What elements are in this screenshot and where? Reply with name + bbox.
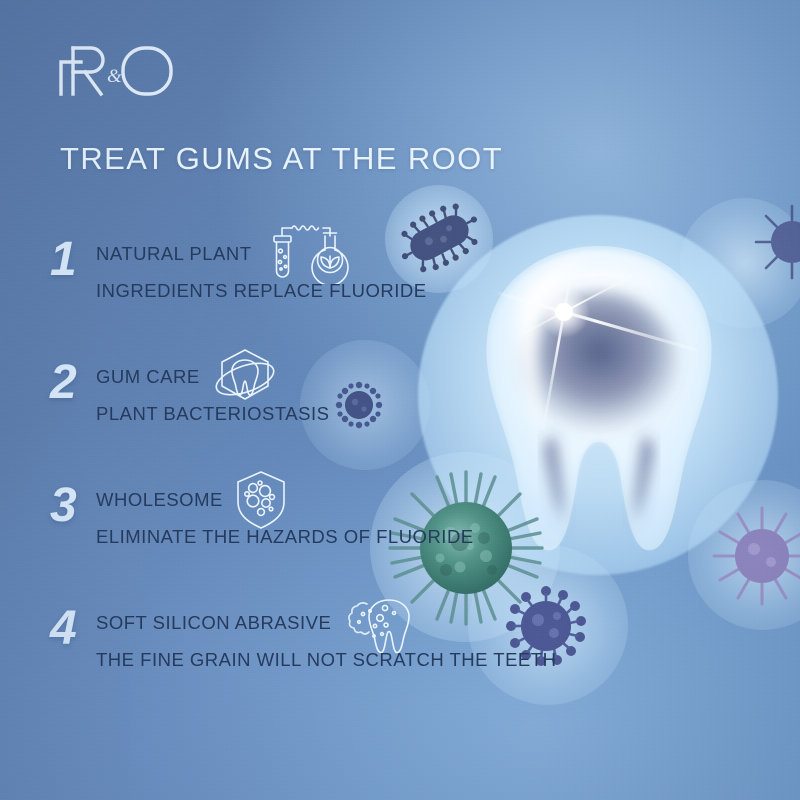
feature-title-2: GUM CARE: [96, 366, 200, 388]
poster-root: & TREAT GUMS AT THE ROOT 1 NATURAL PLANT: [0, 0, 800, 800]
feature-body-3: WHOLESOME: [96, 478, 566, 548]
feature-item-2: 2 GUM CARE PLANT BA: [50, 355, 570, 478]
tooth-shield-orbit-icon: [210, 345, 280, 409]
feature-title-1: NATURAL PLANT: [96, 243, 252, 265]
feature-number-2: 2: [50, 359, 92, 407]
feature-number-3: 3: [50, 482, 92, 530]
feature-item-3: 3 WHOLESOME: [50, 478, 570, 601]
feature-subtitle-1: INGREDIENTS REPLACE FLUORIDE: [96, 280, 566, 302]
feature-subtitle-4: THE FINE GRAIN WILL NOT SCRATCH THE TEET…: [96, 649, 566, 671]
feature-subtitle-2: PLANT BACTERIOSTASIS: [96, 403, 566, 425]
r-and-o-logo[interactable]: &: [57, 38, 177, 98]
feature-number-4: 4: [50, 605, 92, 653]
feature-number-1: 1: [50, 236, 92, 284]
feature-item-1: 1 NATURAL PLANT: [50, 232, 570, 355]
page-title: TREAT GUMS AT THE ROOT: [60, 141, 503, 177]
feature-body-1: NATURAL PLANT: [96, 232, 566, 302]
feature-subtitle-3: ELIMINATE THE HAZARDS OF FLUORIDE: [96, 526, 566, 548]
ampersand-glyph: &: [107, 66, 122, 87]
tooth-foam-icon: [341, 592, 421, 654]
shield-bubbles-icon: [233, 468, 289, 532]
feature-title-3: WHOLESOME: [96, 489, 223, 511]
feature-body-4: SOFT SILICON ABRASIVE: [96, 601, 566, 671]
feature-list: 1 NATURAL PLANT: [50, 232, 570, 724]
feature-item-4: 4 SOFT SILICON ABRASIVE: [50, 601, 570, 724]
feature-body-2: GUM CARE PLANT BACTERIOSTASIS: [96, 355, 566, 425]
feature-title-4: SOFT SILICON ABRASIVE: [96, 612, 331, 634]
test-tube-flask-leaf-icon: [262, 224, 350, 284]
